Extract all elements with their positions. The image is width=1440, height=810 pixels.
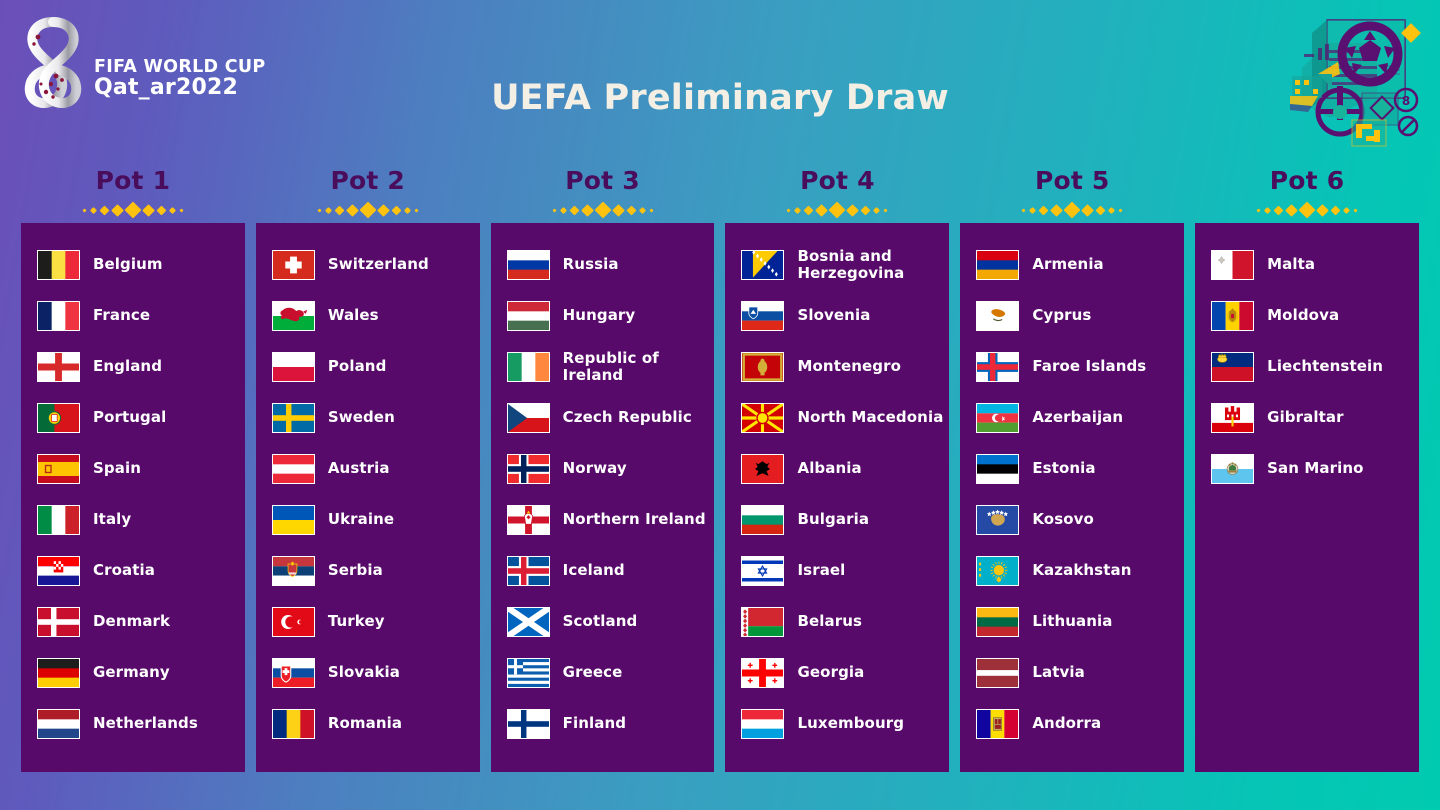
flag-belarus-icon xyxy=(741,607,784,637)
flag-faroe-islands-icon xyxy=(976,352,1019,382)
flag-england-icon xyxy=(37,352,80,382)
team-name: Czech Republic xyxy=(563,409,692,426)
team-name: Poland xyxy=(328,358,387,375)
team-name: Slovakia xyxy=(328,664,400,681)
flag-denmark-icon xyxy=(37,607,80,637)
team-row[interactable]: Kazakhstan xyxy=(960,545,1184,596)
flag-serbia-icon xyxy=(272,556,315,586)
team-row[interactable]: Denmark xyxy=(21,596,245,647)
team-name: Georgia xyxy=(797,664,864,681)
team-row[interactable]: Hungary xyxy=(491,290,715,341)
pot-panel: BelgiumFranceEnglandPortugalSpainItalyCr… xyxy=(21,223,245,772)
flag-poland-icon xyxy=(272,352,315,382)
team-row[interactable]: Belarus xyxy=(725,596,949,647)
team-name: Republic of Ireland xyxy=(563,350,715,384)
team-name: Israel xyxy=(797,562,845,579)
pot-column: Pot 1BelgiumFranceEnglandPortugalSpainIt… xyxy=(21,168,245,772)
team-row[interactable]: Azerbaijan xyxy=(960,392,1184,443)
flag-bulgaria-icon xyxy=(741,505,784,535)
flag-montenegro-icon xyxy=(741,352,784,382)
team-row[interactable]: Poland xyxy=(256,341,480,392)
team-row[interactable]: Armenia xyxy=(960,239,1184,290)
team-name: England xyxy=(93,358,162,375)
pot-title: Pot 2 xyxy=(256,168,480,197)
team-name: Kazakhstan xyxy=(1032,562,1131,579)
team-row[interactable]: Gibraltar xyxy=(1195,392,1419,443)
team-row[interactable]: Georgia xyxy=(725,647,949,698)
flag-finland-icon xyxy=(507,709,550,739)
team-row[interactable]: Liechtenstein xyxy=(1195,341,1419,392)
team-row[interactable]: Albania xyxy=(725,443,949,494)
team-name: Albania xyxy=(797,460,861,477)
team-name: Moldova xyxy=(1267,307,1339,324)
team-row[interactable]: Cyprus xyxy=(960,290,1184,341)
team-name: Italy xyxy=(93,511,131,528)
pot-panel: Bosnia and HerzegovinaSloveniaMontenegro… xyxy=(725,223,949,772)
team-name: Belgium xyxy=(93,256,163,273)
team-name: Faroe Islands xyxy=(1032,358,1146,375)
flag-russia-icon xyxy=(507,250,550,280)
team-row[interactable]: Slovakia xyxy=(256,647,480,698)
diamond-divider xyxy=(256,197,480,223)
flag-netherlands-icon xyxy=(37,709,80,739)
flag-north-macedonia-icon xyxy=(741,403,784,433)
team-name: Luxembourg xyxy=(797,715,904,732)
team-name: Belarus xyxy=(797,613,862,630)
flag-slovakia-icon xyxy=(272,658,315,688)
team-name: Scotland xyxy=(563,613,638,630)
diamond-divider xyxy=(21,197,245,223)
flag-armenia-icon xyxy=(976,250,1019,280)
flag-ireland-icon xyxy=(507,352,550,382)
diamond-divider xyxy=(491,197,715,223)
team-name: Armenia xyxy=(1032,256,1103,273)
team-row[interactable]: Sweden xyxy=(256,392,480,443)
team-row[interactable]: Israel xyxy=(725,545,949,596)
team-row[interactable]: Spain xyxy=(21,443,245,494)
poster-canvas: FIFA WORLD CUP Qat_ar2022 xyxy=(0,0,1440,810)
flag-estonia-icon xyxy=(976,454,1019,484)
flag-croatia-icon xyxy=(37,556,80,586)
team-row[interactable]: Northern Ireland xyxy=(491,494,715,545)
pot-column: Pot 2SwitzerlandWalesPolandSwedenAustria… xyxy=(256,168,480,772)
flag-northern-ireland-icon xyxy=(507,505,550,535)
pot-panel: SwitzerlandWalesPolandSwedenAustriaUkrai… xyxy=(256,223,480,772)
team-row[interactable]: North Macedonia xyxy=(725,392,949,443)
diamond-divider xyxy=(1195,197,1419,223)
team-name: Wales xyxy=(328,307,379,324)
flag-albania-icon xyxy=(741,454,784,484)
pot-panel: ArmeniaCyprusFaroe IslandsAzerbaijanEsto… xyxy=(960,223,1184,772)
team-name: Greece xyxy=(563,664,623,681)
team-name: Norway xyxy=(563,460,627,477)
flag-slovenia-icon xyxy=(741,301,784,331)
pot-title: Pot 4 xyxy=(725,168,949,197)
team-row[interactable]: Ukraine xyxy=(256,494,480,545)
team-row[interactable]: Lithuania xyxy=(960,596,1184,647)
team-name: Estonia xyxy=(1032,460,1095,477)
team-name: Lithuania xyxy=(1032,613,1112,630)
team-name: Cyprus xyxy=(1032,307,1091,324)
team-name: Andorra xyxy=(1032,715,1101,732)
team-row[interactable]: Slovenia xyxy=(725,290,949,341)
team-name: Austria xyxy=(328,460,390,477)
flag-greece-icon xyxy=(507,658,550,688)
team-row[interactable]: Turkey xyxy=(256,596,480,647)
pot-title: Pot 1 xyxy=(21,168,245,197)
flag-belgium-icon xyxy=(37,250,80,280)
team-name: North Macedonia xyxy=(797,409,943,426)
team-row[interactable]: Montenegro xyxy=(725,341,949,392)
flag-georgia-icon xyxy=(741,658,784,688)
team-row[interactable]: Iceland xyxy=(491,545,715,596)
team-name: Russia xyxy=(563,256,619,273)
pot-column: Pot 3RussiaHungaryRepublic of IrelandCze… xyxy=(491,168,715,772)
team-row[interactable]: Belgium xyxy=(21,239,245,290)
flag-iceland-icon xyxy=(507,556,550,586)
flag-kazakhstan-icon xyxy=(976,556,1019,586)
flag-kosovo-icon xyxy=(976,505,1019,535)
team-name: Denmark xyxy=(93,613,170,630)
team-name: San Marino xyxy=(1267,460,1363,477)
team-name: Finland xyxy=(563,715,626,732)
team-row[interactable]: Italy xyxy=(21,494,245,545)
team-row[interactable]: France xyxy=(21,290,245,341)
pot-panel: MaltaMoldovaLiechtensteinGibraltarSan Ma… xyxy=(1195,223,1419,772)
team-name: Latvia xyxy=(1032,664,1085,681)
team-row[interactable]: Latvia xyxy=(960,647,1184,698)
flag-liechtenstein-icon xyxy=(1211,352,1254,382)
team-row[interactable]: Netherlands xyxy=(21,698,245,749)
team-row[interactable]: Germany xyxy=(21,647,245,698)
flag-andorra-icon xyxy=(976,709,1019,739)
team-name: Serbia xyxy=(328,562,383,579)
team-name: Montenegro xyxy=(797,358,901,375)
team-row[interactable]: Greece xyxy=(491,647,715,698)
team-row[interactable]: Austria xyxy=(256,443,480,494)
team-row[interactable]: Russia xyxy=(491,239,715,290)
flag-germany-icon xyxy=(37,658,80,688)
team-row[interactable]: Croatia xyxy=(21,545,245,596)
team-row[interactable]: Andorra xyxy=(960,698,1184,749)
team-row[interactable]: San Marino xyxy=(1195,443,1419,494)
flag-sweden-icon xyxy=(272,403,315,433)
team-row[interactable]: Malta xyxy=(1195,239,1419,290)
team-name: Spain xyxy=(93,460,141,477)
team-name: Bosnia and Herzegovina xyxy=(797,248,949,282)
flag-israel-icon xyxy=(741,556,784,586)
flag-spain-icon xyxy=(37,454,80,484)
flag-luxembourg-icon xyxy=(741,709,784,739)
team-row[interactable]: Switzerland xyxy=(256,239,480,290)
team-row[interactable]: Czech Republic xyxy=(491,392,715,443)
team-name: Portugal xyxy=(93,409,166,426)
flag-gibraltar-icon xyxy=(1211,403,1254,433)
flag-ukraine-icon xyxy=(272,505,315,535)
team-name: Ukraine xyxy=(328,511,394,528)
team-name: Bulgaria xyxy=(797,511,869,528)
pot-title: Pot 5 xyxy=(960,168,1184,197)
pot-title: Pot 6 xyxy=(1195,168,1419,197)
team-name: Gibraltar xyxy=(1267,409,1343,426)
pot-column: Pot 5ArmeniaCyprusFaroe IslandsAzerbaija… xyxy=(960,168,1184,772)
team-name: Hungary xyxy=(563,307,636,324)
team-row[interactable]: Bulgaria xyxy=(725,494,949,545)
team-row[interactable]: Republic of Ireland xyxy=(491,341,715,392)
flag-latvia-icon xyxy=(976,658,1019,688)
flag-bosnia-and-herzegovina-icon xyxy=(741,250,784,280)
flag-switzerland-icon xyxy=(272,250,315,280)
pot-column: Pot 6MaltaMoldovaLiechtensteinGibraltarS… xyxy=(1195,168,1419,772)
team-row[interactable]: Serbia xyxy=(256,545,480,596)
flag-czech-republic-icon xyxy=(507,403,550,433)
team-name: Malta xyxy=(1267,256,1315,273)
team-name: Kosovo xyxy=(1032,511,1094,528)
flag-scotland-icon xyxy=(507,607,550,637)
team-row[interactable]: Luxembourg xyxy=(725,698,949,749)
flag-malta-icon xyxy=(1211,250,1254,280)
flag-portugal-icon xyxy=(37,403,80,433)
flag-hungary-icon xyxy=(507,301,550,331)
team-name: Switzerland xyxy=(328,256,429,273)
flag-austria-icon xyxy=(272,454,315,484)
team-name: France xyxy=(93,307,150,324)
team-row[interactable]: Bosnia and Herzegovina xyxy=(725,239,949,290)
team-row[interactable]: Romania xyxy=(256,698,480,749)
team-name: Liechtenstein xyxy=(1267,358,1383,375)
flag-turkey-icon xyxy=(272,607,315,637)
fifa-wordmark-line1: FIFA WORLD CUP xyxy=(94,58,266,76)
pot-title: Pot 3 xyxy=(491,168,715,197)
flag-wales-icon xyxy=(272,301,315,331)
team-name: Croatia xyxy=(93,562,155,579)
team-name: Turkey xyxy=(328,613,385,630)
flag-lithuania-icon xyxy=(976,607,1019,637)
page-title: UEFA Preliminary Draw xyxy=(0,78,1440,118)
flag-italy-icon xyxy=(37,505,80,535)
team-row[interactable]: Portugal xyxy=(21,392,245,443)
team-name: Netherlands xyxy=(93,715,198,732)
team-name: Germany xyxy=(93,664,170,681)
flag-romania-icon xyxy=(272,709,315,739)
team-name: Romania xyxy=(328,715,402,732)
flag-france-icon xyxy=(37,301,80,331)
flag-moldova-icon xyxy=(1211,301,1254,331)
team-row[interactable]: Kosovo xyxy=(960,494,1184,545)
team-name: Slovenia xyxy=(797,307,870,324)
flag-norway-icon xyxy=(507,454,550,484)
team-row[interactable]: Scotland xyxy=(491,596,715,647)
team-name: Sweden xyxy=(328,409,395,426)
flag-san-marino-icon xyxy=(1211,454,1254,484)
pots-grid: Pot 1BelgiumFranceEnglandPortugalSpainIt… xyxy=(21,168,1419,772)
team-name: Iceland xyxy=(563,562,625,579)
flag-cyprus-icon xyxy=(976,301,1019,331)
team-row[interactable]: Estonia xyxy=(960,443,1184,494)
pot-column: Pot 4Bosnia and HerzegovinaSloveniaMonte… xyxy=(725,168,949,772)
team-row[interactable]: Faroe Islands xyxy=(960,341,1184,392)
team-name: Northern Ireland xyxy=(563,511,706,528)
team-row[interactable]: Finland xyxy=(491,698,715,749)
pot-panel: RussiaHungaryRepublic of IrelandCzech Re… xyxy=(491,223,715,772)
team-row[interactable]: England xyxy=(21,341,245,392)
team-row[interactable]: Norway xyxy=(491,443,715,494)
team-name: Azerbaijan xyxy=(1032,409,1123,426)
diamond-divider xyxy=(725,197,949,223)
flag-azerbaijan-icon xyxy=(976,403,1019,433)
team-row[interactable]: Wales xyxy=(256,290,480,341)
diamond-divider xyxy=(960,197,1184,223)
team-row[interactable]: Moldova xyxy=(1195,290,1419,341)
